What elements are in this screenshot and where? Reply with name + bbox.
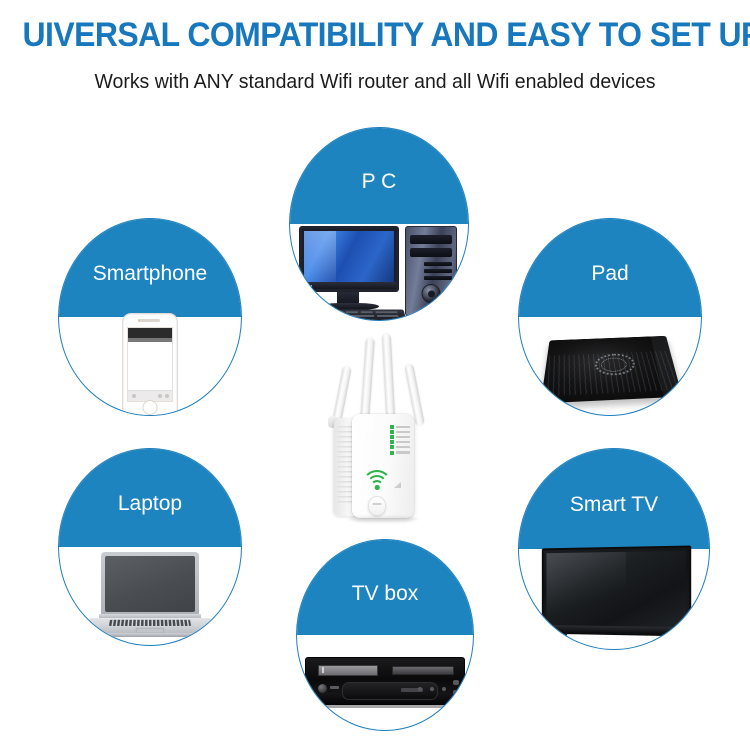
tv-glare [546, 552, 625, 626]
card-body-laptop [59, 547, 241, 645]
card-label-pad: Pad [591, 262, 628, 286]
wifi-range-extender [318, 330, 442, 525]
monitor-glare [304, 231, 336, 282]
tvbox-small-button [330, 686, 339, 689]
laptop-base-edge [95, 633, 205, 637]
tvbox-side-button [453, 690, 459, 695]
laptop-keys [109, 620, 191, 626]
phone-status-bar [128, 328, 172, 338]
laptop-keyboard-deck [85, 618, 215, 633]
tvbox-disc-slot [392, 666, 454, 675]
tvbox-front-panel [342, 682, 438, 700]
tvbox-jog-dial [318, 684, 327, 693]
drive-bay [410, 235, 452, 244]
card-label-smarttv: Smart TV [570, 493, 658, 517]
tvbox-button-dot [418, 687, 422, 691]
tvbox-button-dot [442, 687, 446, 691]
monitor-chin [302, 282, 396, 289]
page-title: UIVERSAL COMPATIBILITY AND EASY TO SET U… [23, 16, 728, 55]
tower-slot [424, 276, 452, 280]
led-row [390, 450, 412, 455]
device-card-tvbox[interactable]: TV box [296, 539, 474, 731]
wps-button[interactable] [368, 496, 386, 516]
tower-slot [424, 262, 452, 266]
laptop-icon [85, 552, 215, 640]
phone-home-button [143, 400, 158, 415]
card-body-smartphone [59, 317, 241, 415]
card-body-pc [290, 224, 468, 320]
tvbox-cassette-slot [318, 665, 378, 676]
antenna [360, 338, 375, 420]
tv-box-icon [305, 657, 465, 709]
tvbox-chassis [305, 657, 465, 705]
smart-tv-icon [538, 547, 690, 650]
laptop-lid [101, 552, 199, 616]
card-header-smartphone: Smartphone [59, 219, 241, 317]
device-card-laptop[interactable]: Laptop [58, 448, 242, 646]
card-body-pad [519, 317, 701, 415]
tvbox-button-dot [430, 687, 434, 691]
device-card-smarttv[interactable]: Smart TV [518, 448, 710, 650]
card-label-laptop: Laptop [118, 492, 182, 516]
card-header-tvbox: TV box [297, 540, 473, 635]
extender-shadow [348, 516, 418, 522]
phone-screen [127, 327, 173, 402]
tvbox-side-button [453, 680, 459, 685]
led-indicator-panel [390, 424, 412, 455]
wifi-dot [375, 485, 380, 490]
antenna [382, 334, 395, 420]
tvbox-shadow [313, 704, 457, 708]
tv-panel [542, 545, 691, 636]
pad-surface [541, 336, 683, 404]
phone-toolbar-dot [132, 394, 136, 398]
laptop-screen [105, 556, 195, 612]
device-card-pc[interactable]: P C [289, 127, 469, 321]
tv-leg-left [559, 633, 567, 646]
desktop-computer-icon [299, 226, 459, 318]
card-header-pc: P C [290, 128, 468, 224]
card-body-smarttv [519, 549, 709, 649]
phone-toolbar-dot [165, 394, 169, 398]
page-subtitle: Works with ANY standard Wifi router and … [19, 70, 732, 94]
card-header-smarttv: Smart TV [519, 449, 709, 549]
tv-leg-right [660, 633, 668, 646]
tower-power-button [422, 284, 441, 303]
infographic-canvas: UIVERSAL COMPATIBILITY AND EASY TO SET U… [0, 0, 750, 750]
tv-stand [554, 633, 674, 648]
phone-address-bar [128, 338, 172, 342]
phone-speaker [140, 319, 160, 322]
phone-toolbar-dot [158, 394, 162, 398]
device-card-pad[interactable]: Pad [518, 218, 702, 416]
drive-bay [410, 248, 452, 257]
device-card-smartphone[interactable]: Smartphone [58, 218, 242, 416]
card-header-pad: Pad [519, 219, 701, 317]
wifi-signal-icon [363, 470, 391, 490]
keyboard [295, 309, 406, 320]
monitor-power-led [307, 285, 312, 287]
card-header-laptop: Laptop [59, 449, 241, 547]
monitor [299, 226, 399, 292]
tower-slot [424, 269, 452, 273]
tablet-pad-icon [546, 329, 674, 403]
smartphone-icon [122, 313, 178, 416]
computer-tower [405, 226, 457, 316]
card-body-tvbox [297, 635, 473, 730]
card-label-pc: P C [362, 170, 397, 194]
card-label-smartphone: Smartphone [93, 262, 207, 286]
card-label-tvbox: TV box [352, 582, 419, 606]
signal-arrow-icon [394, 482, 401, 488]
